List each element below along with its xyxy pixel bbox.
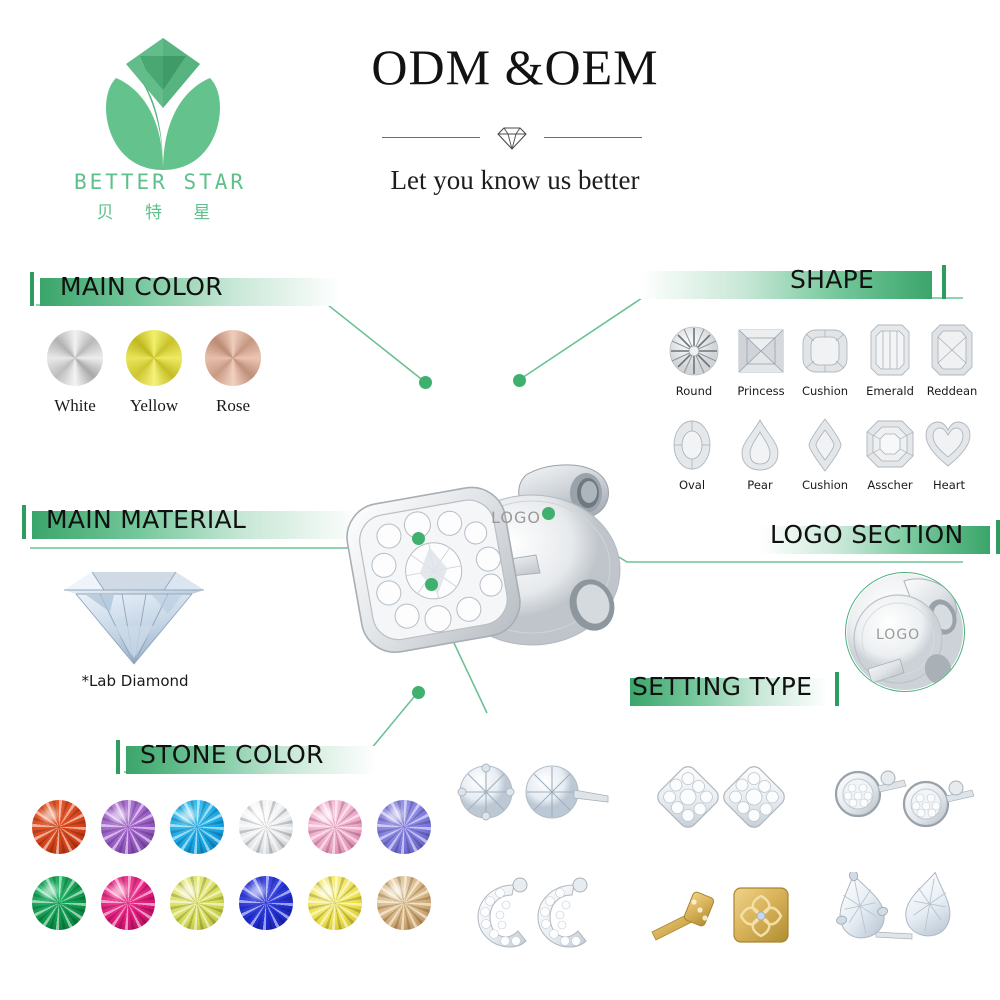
- stone-swatch-tanzanite-violet[interactable]: [377, 800, 431, 854]
- section-title-shape: SHAPE: [790, 265, 874, 294]
- page-title: ODM &OEM: [300, 38, 730, 96]
- gem-shape-round-icon[interactable]: [668, 325, 720, 382]
- setting-bezel-round-stud[interactable]: [826, 766, 976, 837]
- gem-shape-heart-icon[interactable]: [924, 420, 972, 473]
- header-divider: [382, 124, 642, 150]
- gem-label-cushion-1: Cushion: [788, 384, 862, 398]
- connector-dot-setting: [425, 578, 438, 591]
- brand-name-en: BETTER STAR: [60, 170, 260, 194]
- diamond-icon: [497, 126, 527, 155]
- gem-label-oval: Oval: [655, 478, 729, 492]
- stone-swatch-champagne-brown[interactable]: [377, 876, 431, 930]
- stone-swatch-white-clear[interactable]: [239, 800, 293, 854]
- connector-dot-material: [412, 532, 425, 545]
- gem-label-heart: Heart: [912, 478, 986, 492]
- stone-swatch-emerald-green[interactable]: [32, 876, 86, 930]
- metal-label-white: White: [30, 396, 120, 416]
- section-header-logo-section: LOGO SECTION: [700, 520, 980, 554]
- stone-swatch-garnet-orange[interactable]: [32, 800, 86, 854]
- logo-section-placeholder: LOGO: [876, 627, 920, 643]
- gem-label-pear: Pear: [723, 478, 797, 492]
- connector-dot-logo: [542, 507, 555, 520]
- stone-swatch-sapphire-blue[interactable]: [239, 876, 293, 930]
- gem-shape-princess-icon[interactable]: [737, 328, 785, 379]
- section-title-main-color: MAIN COLOR: [60, 272, 223, 301]
- lab-diamond-icon: [48, 568, 220, 673]
- lab-diamond-caption: *Lab Diamond: [40, 672, 230, 690]
- section-title-setting-type: SETTING TYPE: [632, 672, 812, 701]
- stone-swatch-swiss-blue-topaz[interactable]: [170, 800, 224, 854]
- brand-name-cn: 贝 特 星: [60, 198, 260, 223]
- gem-shape-marquise-icon[interactable]: [806, 418, 844, 477]
- section-header-shape: SHAPE: [640, 265, 970, 299]
- gem-shape-asscher-icon[interactable]: [866, 420, 914, 473]
- gem-shape-pear-icon[interactable]: [739, 418, 781, 477]
- stone-swatch-citrine-yellow[interactable]: [308, 876, 362, 930]
- stone-swatch-ruby-fuchsia[interactable]: [101, 876, 155, 930]
- gem-shape-emerald-icon[interactable]: [870, 324, 910, 381]
- product-logo-placeholder: LOGO: [491, 508, 541, 527]
- gem-tulip-logo-icon: [88, 30, 238, 170]
- setting-pave-cushion-stud[interactable]: [646, 760, 796, 839]
- gem-shape-oval-icon[interactable]: [672, 419, 712, 476]
- section-title-logo-section: LOGO SECTION: [770, 520, 963, 549]
- gem-label-princess: Princess: [724, 384, 798, 398]
- section-header-stone-color: STONE COLOR: [116, 740, 436, 774]
- metal-swatch-white[interactable]: [47, 330, 103, 386]
- setting-gold-filigree-square-stud[interactable]: [648, 880, 808, 953]
- metal-swatch-rose[interactable]: [205, 330, 261, 386]
- setting-pave-huggie-hoop[interactable]: [470, 875, 610, 956]
- connector-dot-stone: [412, 686, 425, 699]
- section-header-setting-type: SETTING TYPE: [630, 672, 960, 706]
- infographic-page: BETTER STAR 贝 特 星 ODM &OEM Let you know …: [0, 0, 1000, 1000]
- brand-logo: BETTER STAR 贝 特 星: [60, 30, 260, 230]
- metal-swatch-yellow[interactable]: [126, 330, 182, 386]
- gem-shape-reddean-icon[interactable]: [931, 324, 973, 381]
- stone-swatch-peridot-yellow-green[interactable]: [170, 876, 224, 930]
- stone-swatch-rose-pink[interactable]: [308, 800, 362, 854]
- connector-dot-main-color: [419, 376, 432, 389]
- section-header-main-color: MAIN COLOR: [30, 272, 550, 306]
- gem-label-round: Round: [657, 384, 731, 398]
- metal-label-yellow: Yellow: [109, 396, 199, 416]
- setting-prong-round-stud[interactable]: [452, 762, 612, 837]
- gem-label-cushion-2: Cushion: [788, 478, 862, 492]
- connector-dot-shape: [513, 374, 526, 387]
- section-title-stone-color: STONE COLOR: [140, 740, 324, 769]
- gem-shape-cushion-icon[interactable]: [801, 328, 849, 379]
- page-subtitle: Let you know us better: [300, 165, 730, 196]
- setting-claw-pear-stud[interactable]: [820, 872, 970, 953]
- product-image-pave-cushion-stud: [340, 455, 660, 720]
- section-title-main-material: MAIN MATERIAL: [46, 505, 246, 534]
- stone-swatch-amethyst-purple[interactable]: [101, 800, 155, 854]
- metal-label-rose: Rose: [188, 396, 278, 416]
- gem-label-reddean: Reddean: [915, 384, 989, 398]
